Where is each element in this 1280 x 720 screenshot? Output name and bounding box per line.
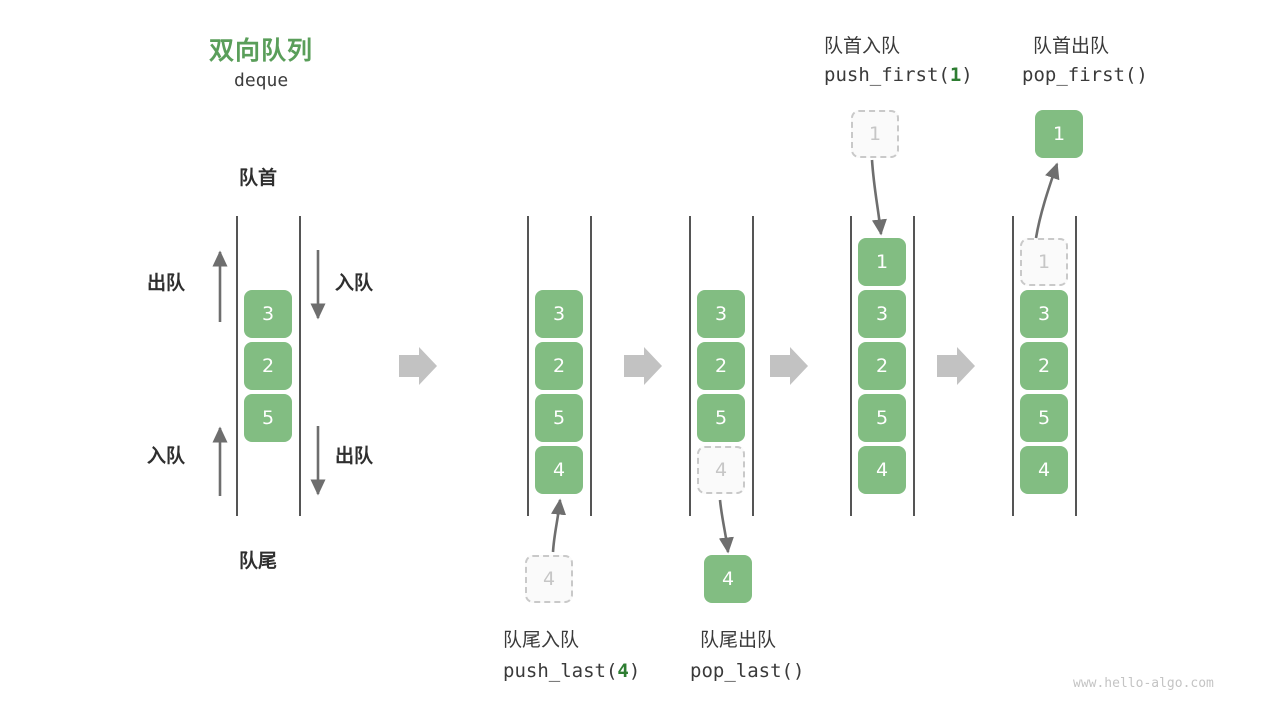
rail-right-1 bbox=[590, 216, 592, 516]
cell-3-1: 3 bbox=[858, 290, 906, 338]
rail-left-4 bbox=[1012, 216, 1014, 516]
caption-pop-last-cn: 队尾出队 bbox=[700, 625, 776, 652]
cell-3-3: 5 bbox=[858, 394, 906, 442]
flow-arrow-pop-first bbox=[1036, 164, 1057, 238]
label-dequeue-rear: 出队 bbox=[335, 441, 373, 468]
diagram-canvas: 双向队列 deque 队首 队尾 出队 入队 入队 出队 队首入队 push_f… bbox=[0, 0, 1280, 720]
rail-left-1 bbox=[527, 216, 529, 516]
rail-right-0 bbox=[299, 216, 301, 516]
step-arrow-2 bbox=[624, 347, 662, 385]
caption-push-first-cn: 队首入队 bbox=[824, 31, 900, 58]
flow-arrow-push-first bbox=[872, 160, 881, 234]
floating-cell-pop-first-out: 1 bbox=[1035, 110, 1083, 158]
code-prefix: push_first( bbox=[824, 64, 950, 86]
cell-4-1: 3 bbox=[1020, 290, 1068, 338]
code-prefix: pop_first( bbox=[1022, 64, 1136, 86]
cell-3-2: 2 bbox=[858, 342, 906, 390]
rail-right-2 bbox=[752, 216, 754, 516]
rail-left-0 bbox=[236, 216, 238, 516]
cell-0-0: 3 bbox=[244, 290, 292, 338]
code-prefix: push_last( bbox=[503, 660, 617, 682]
rail-right-4 bbox=[1075, 216, 1077, 516]
code-suffix: ) bbox=[629, 660, 640, 682]
arrows-overlay bbox=[0, 0, 1280, 720]
rail-left-2 bbox=[689, 216, 691, 516]
cell-4-2: 2 bbox=[1020, 342, 1068, 390]
floating-cell-push-first-ghost: 1 bbox=[851, 110, 899, 158]
label-rear: 队尾 bbox=[239, 546, 277, 573]
label-front: 队首 bbox=[239, 163, 277, 190]
cell-4-4: 4 bbox=[1020, 446, 1068, 494]
caption-push-last-cn: 队尾入队 bbox=[503, 625, 579, 652]
flow-arrow-pop-last bbox=[720, 500, 728, 552]
cell-1-0: 3 bbox=[535, 290, 583, 338]
caption-push-last-code: push_last(4) bbox=[503, 660, 640, 682]
floating-cell-pop-last-out: 4 bbox=[704, 555, 752, 603]
flow-arrow-push-last bbox=[553, 500, 560, 552]
cell-4-3: 5 bbox=[1020, 394, 1068, 442]
cell-1-1: 2 bbox=[535, 342, 583, 390]
cell-2-1: 2 bbox=[697, 342, 745, 390]
floating-cell-push-last-ghost: 4 bbox=[525, 555, 573, 603]
code-suffix: ) bbox=[793, 660, 804, 682]
label-enqueue-front: 入队 bbox=[335, 268, 373, 295]
label-enqueue-rear: 入队 bbox=[147, 441, 185, 468]
caption-pop-first-cn: 队首出队 bbox=[1033, 31, 1109, 58]
caption-pop-last-code: pop_last() bbox=[690, 660, 804, 682]
cell-2-2: 5 bbox=[697, 394, 745, 442]
step-arrow-4 bbox=[937, 347, 975, 385]
cell-2-3-ghost: 4 bbox=[697, 446, 745, 494]
rail-right-3 bbox=[913, 216, 915, 516]
cell-4-0-ghost: 1 bbox=[1020, 238, 1068, 286]
rail-left-3 bbox=[850, 216, 852, 516]
cell-3-4: 4 bbox=[858, 446, 906, 494]
cell-3-0: 1 bbox=[858, 238, 906, 286]
code-arg: 1 bbox=[950, 64, 961, 86]
page-title-cn: 双向队列 bbox=[209, 31, 313, 67]
step-arrow-3 bbox=[770, 347, 808, 385]
watermark: www.hello-algo.com bbox=[1073, 676, 1214, 691]
step-arrow-1 bbox=[399, 347, 437, 385]
cell-1-3: 4 bbox=[535, 446, 583, 494]
code-suffix: ) bbox=[1136, 64, 1147, 86]
cell-0-1: 2 bbox=[244, 342, 292, 390]
caption-push-first-code: push_first(1) bbox=[824, 64, 973, 86]
cell-0-2: 5 bbox=[244, 394, 292, 442]
code-suffix: ) bbox=[961, 64, 972, 86]
label-dequeue-front: 出队 bbox=[147, 268, 185, 295]
code-arg: 4 bbox=[617, 660, 628, 682]
cell-2-0: 3 bbox=[697, 290, 745, 338]
cell-1-2: 5 bbox=[535, 394, 583, 442]
caption-pop-first-code: pop_first() bbox=[1022, 64, 1148, 86]
page-title-en: deque bbox=[234, 70, 288, 91]
code-prefix: pop_last( bbox=[690, 660, 793, 682]
